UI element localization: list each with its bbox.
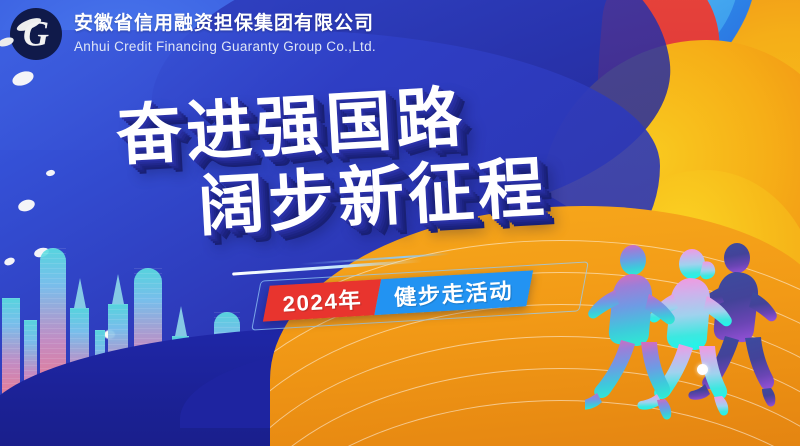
runner-left [585,245,675,420]
subtitle-year-segment: 2024年 [263,279,382,321]
runner-silhouettes [585,236,800,446]
subtitle-event-label: 健步走活动 [393,274,514,312]
brand-name-chinese: 安徽省信用融资担保集团有限公司 [74,12,376,36]
subtitle-year-label: 2024年 [282,282,363,318]
skyline-spire [112,274,124,304]
title-line-2: 阔步新征程 [196,155,549,239]
brand-text-block: 安徽省信用融资担保集团有限公司 Anhui Credit Financing G… [74,12,376,55]
promotional-banner: G 安徽省信用融资担保集团有限公司 Anhui Credit Financing… [0,0,800,446]
company-logo-icon: G [10,8,62,60]
skyline-spire [74,278,86,308]
brand-name-english: Anhui Credit Financing Guaranty Group Co… [74,38,376,56]
ball-highlight [697,364,708,375]
brand-header: G 安徽省信用融资担保集团有限公司 Anhui Credit Financing… [10,8,376,60]
main-title: 奋进强国路 阔步新征程 [114,80,549,243]
skyline-spire [175,306,187,336]
logo-letter-g: G [23,15,49,51]
